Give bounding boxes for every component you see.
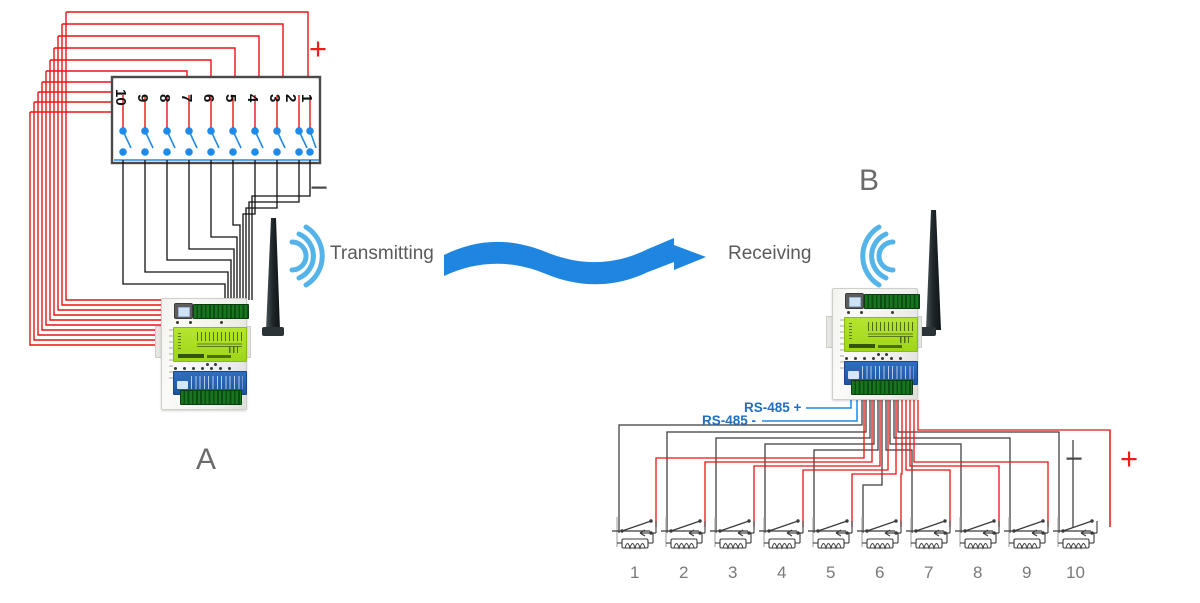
switch-label-2: 2 <box>282 94 299 102</box>
relay-label-3: 3 <box>728 563 737 583</box>
relay-label-6: 6 <box>875 563 884 583</box>
switch-label-1: 1 <box>298 94 315 102</box>
switch-label-5: 5 <box>222 94 239 102</box>
switch-panel-plus-label: + <box>309 33 327 64</box>
usb-port[interactable] <box>845 293 864 309</box>
node-a-label: A <box>196 443 217 477</box>
status-leds-mid <box>206 363 220 366</box>
status-leds-mid <box>877 353 891 356</box>
signal-wires-a <box>123 160 310 300</box>
switch-label-8: 8 <box>156 94 173 102</box>
relay-label-5: 5 <box>826 563 835 583</box>
status-leds-row <box>174 367 236 370</box>
module-body <box>832 288 918 400</box>
front-label-green <box>173 327 247 362</box>
front-label-green <box>844 317 918 352</box>
transmitting-label: Transmitting <box>330 243 434 265</box>
relay-bank-plus-label: + <box>1120 443 1138 474</box>
switch-label-3: 3 <box>266 94 283 102</box>
receiving-label: Receiving <box>728 243 811 265</box>
switch-panel-minus-label: − <box>310 172 328 203</box>
top-terminal-block[interactable] <box>193 304 249 319</box>
relay-label-8: 8 <box>973 563 982 583</box>
bottom-terminal-block[interactable] <box>851 380 913 395</box>
relay-label-7: 7 <box>924 563 933 583</box>
relay-label-2: 2 <box>679 563 688 583</box>
usb-port[interactable] <box>174 303 193 319</box>
switch-label-10: 10 <box>112 89 129 106</box>
wifi-waves-icon-rx <box>863 227 893 285</box>
relay-symbols <box>612 517 1097 548</box>
relay-label-9: 9 <box>1022 563 1031 583</box>
supply-wires-a <box>30 12 308 345</box>
switch-label-6: 6 <box>200 94 217 102</box>
module-body <box>161 298 247 410</box>
status-leds-top <box>176 321 236 324</box>
relay-label-1: 1 <box>630 563 639 583</box>
switch-label-4: 4 <box>244 94 261 102</box>
wifi-waves-icon-tx <box>292 227 322 285</box>
wave-arrow-right-icon <box>444 238 706 284</box>
status-leds-row <box>845 357 907 360</box>
node-b-label: B <box>859 164 880 198</box>
top-terminal-block[interactable] <box>864 294 920 309</box>
rs485-minus-label: RS-485 - <box>702 413 756 428</box>
bottom-terminal-block[interactable] <box>180 390 242 405</box>
switch-label-7: 7 <box>178 94 195 102</box>
wireless-io-module-a[interactable] <box>155 298 251 408</box>
diagram-canvas: + − 10 9 8 7 6 5 4 3 2 1 Transmitting Re… <box>0 0 1200 603</box>
relay-label-10: 10 <box>1066 563 1085 583</box>
wireless-io-module-b[interactable] <box>826 288 922 398</box>
antenna-icon-a <box>262 218 284 336</box>
status-leds-top <box>847 311 907 314</box>
relay-bank-minus-label: − <box>1065 443 1083 474</box>
relay-label-4: 4 <box>777 563 786 583</box>
switch-label-9: 9 <box>134 94 151 102</box>
